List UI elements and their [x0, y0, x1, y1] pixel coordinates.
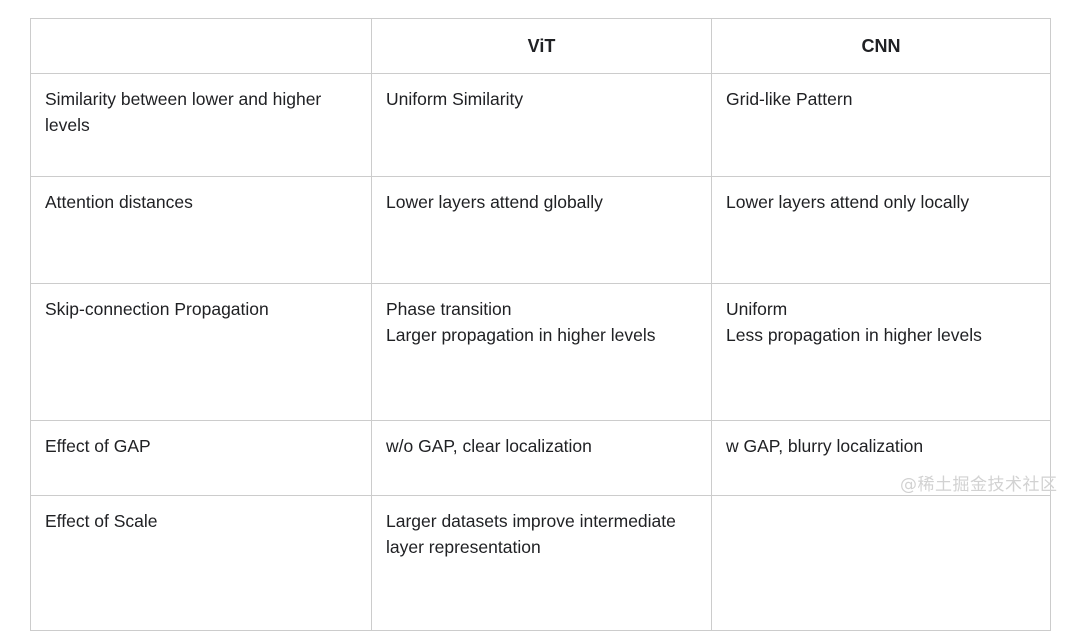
table-body: Similarity between lower and higher leve…	[31, 74, 1051, 631]
table-row: Attention distances Lower layers attend …	[31, 177, 1051, 284]
cell-cnn-attention-distances: Lower layers attend only locally	[712, 177, 1051, 284]
cell-vit-skip-line-2: Larger propagation in higher levels	[386, 322, 697, 348]
cell-attribute-effect-of-gap: Effect of GAP	[31, 421, 372, 496]
cell-cnn-similarity: Grid-like Pattern	[712, 74, 1051, 177]
table-row: Effect of GAP w/o GAP, clear localizatio…	[31, 421, 1051, 496]
table-header-row: ViT CNN	[31, 19, 1051, 74]
column-header-vit: ViT	[372, 19, 712, 74]
watermark-label: @稀土掘金技术社区	[900, 470, 1058, 495]
cell-attribute-skip-connection: Skip-connection Propagation	[31, 284, 372, 421]
cell-vit-attention-distances: Lower layers attend globally	[372, 177, 712, 284]
cell-cnn-skip-connection: Uniform Less propagation in higher level…	[712, 284, 1051, 421]
cell-vit-similarity: Uniform Similarity	[372, 74, 712, 177]
cell-cnn-skip-line-2: Less propagation in higher levels	[726, 322, 1036, 348]
table-row: Skip-connection Propagation Phase transi…	[31, 284, 1051, 421]
table-row: Similarity between lower and higher leve…	[31, 74, 1051, 177]
page-root: ViT CNN Similarity between lower and hig…	[0, 0, 1080, 521]
cell-attribute-similarity: Similarity between lower and higher leve…	[31, 74, 372, 177]
cell-cnn-skip-line-1: Uniform	[726, 296, 1036, 322]
cell-vit-skip-connection: Phase transition Larger propagation in h…	[372, 284, 712, 421]
vit-cnn-comparison-table: ViT CNN Similarity between lower and hig…	[30, 18, 1051, 631]
cell-vit-effect-of-scale: Larger datasets improve intermediate lay…	[372, 496, 712, 631]
table-row: Effect of Scale Larger datasets improve …	[31, 496, 1051, 631]
cell-attribute-attention-distances: Attention distances	[31, 177, 372, 284]
cell-cnn-effect-of-scale	[712, 496, 1051, 631]
table-header: ViT CNN	[31, 19, 1051, 74]
column-header-attribute	[31, 19, 372, 74]
column-header-cnn: CNN	[712, 19, 1051, 74]
cell-vit-effect-of-gap: w/o GAP, clear localization	[372, 421, 712, 496]
cell-attribute-effect-of-scale: Effect of Scale	[31, 496, 372, 631]
cell-vit-skip-line-1: Phase transition	[386, 296, 697, 322]
